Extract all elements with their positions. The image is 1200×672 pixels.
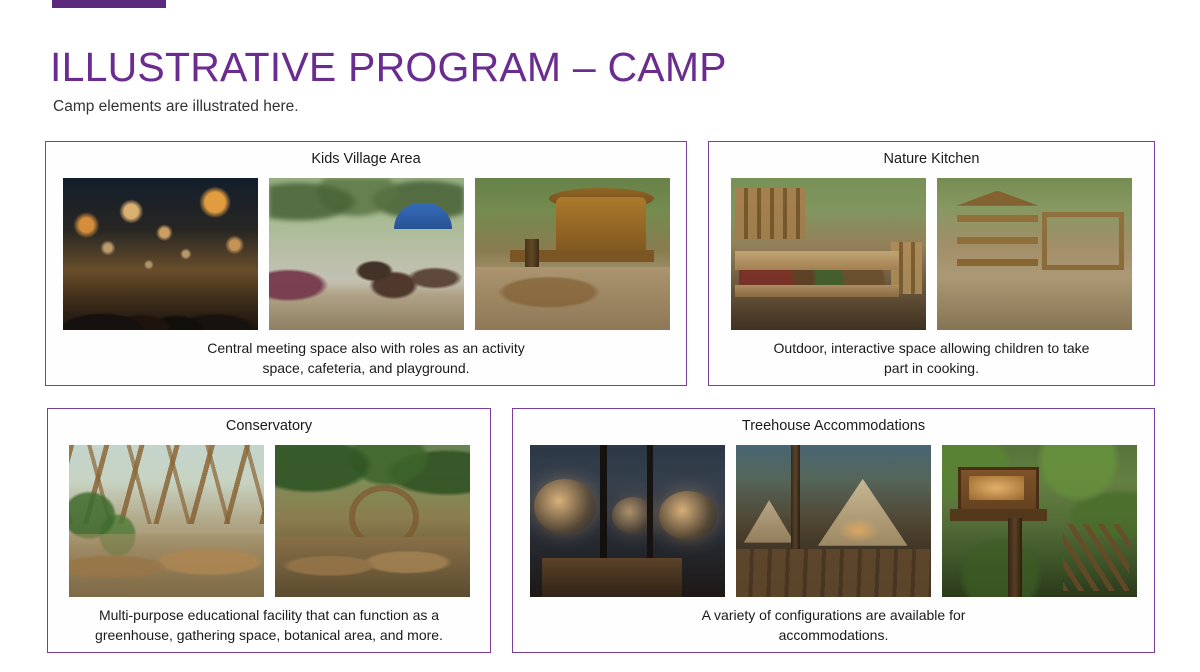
card-caption: Central meeting space also with roles as… bbox=[193, 339, 538, 379]
card-title: Kids Village Area bbox=[311, 151, 420, 168]
children-nature-craft-market-photo[interactable] bbox=[269, 178, 464, 330]
lantern-lit-gathering-photo[interactable] bbox=[63, 178, 258, 330]
page-subtitle: Camp elements are illustrated here. bbox=[53, 98, 299, 116]
card-kids-village-area[interactable]: Kids Village Area Central meeting space … bbox=[45, 141, 687, 386]
card-caption: Outdoor, interactive space allowing chil… bbox=[760, 339, 1104, 379]
wooden-treehouse-play-structure-photo[interactable] bbox=[475, 178, 670, 330]
thumbnail-row bbox=[731, 178, 1132, 330]
thumbnail-row bbox=[69, 445, 470, 597]
accent-bar bbox=[52, 0, 166, 8]
garden-potting-shed-photo[interactable] bbox=[937, 178, 1132, 330]
thumbnail-row bbox=[530, 445, 1137, 597]
forest-bubble-pods-photo[interactable] bbox=[530, 445, 725, 597]
card-title: Treehouse Accommodations bbox=[742, 418, 925, 435]
card-caption: A variety of configurations are availabl… bbox=[688, 606, 980, 646]
glass-conservatory-dining-photo[interactable] bbox=[69, 445, 264, 597]
safari-tent-camp-photo[interactable] bbox=[736, 445, 931, 597]
outdoor-wood-kitchen-bench-photo[interactable] bbox=[731, 178, 926, 330]
thumbnail-row bbox=[63, 178, 670, 330]
card-title: Nature Kitchen bbox=[884, 151, 980, 168]
card-nature-kitchen[interactable]: Nature Kitchen Outdoor, interactive spac… bbox=[708, 141, 1155, 386]
elevated-treehouse-cabin-photo[interactable] bbox=[942, 445, 1137, 597]
card-treehouse-accommodations[interactable]: Treehouse Accommodations A variety of co… bbox=[512, 408, 1155, 653]
page-title: ILLUSTRATIVE PROGRAM – CAMP bbox=[50, 47, 727, 88]
card-title: Conservatory bbox=[226, 418, 312, 435]
greenhouse-gathering-space-photo[interactable] bbox=[275, 445, 470, 597]
card-conservatory[interactable]: Conservatory Multi-purpose educational f… bbox=[47, 408, 491, 653]
card-caption: Multi-purpose educational facility that … bbox=[81, 606, 457, 646]
